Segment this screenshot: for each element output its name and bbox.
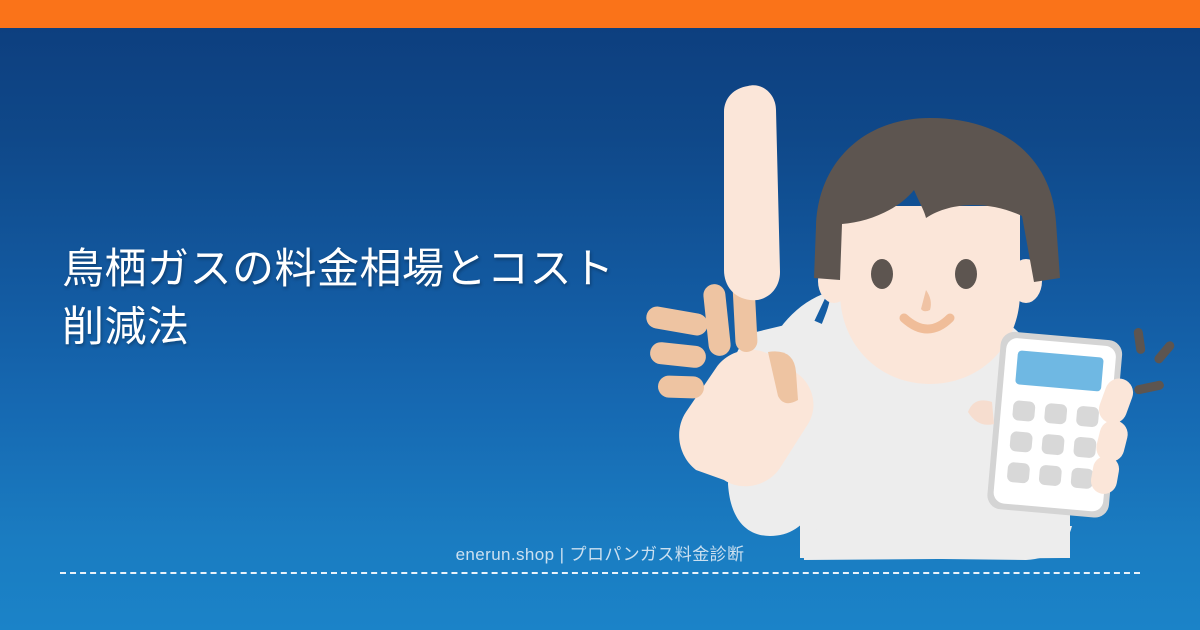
calculator-keys [1007, 400, 1100, 489]
spark-marks-icon [1133, 327, 1176, 395]
footer-divider [60, 572, 1140, 574]
eye-left [871, 259, 893, 289]
eye-right [955, 259, 977, 289]
page-title: 鳥栖ガスの料金相場とコスト 削減法 [62, 240, 722, 356]
footer-site-credit: enerun.shop | プロパンガス料金診断 [0, 540, 1200, 565]
top-accent-bar [0, 0, 1200, 28]
footer: enerun.shop | プロパンガス料金診断 [0, 540, 1200, 630]
share-card-canvas: 鳥栖ガスの料金相場とコスト 削減法 [0, 0, 1200, 630]
